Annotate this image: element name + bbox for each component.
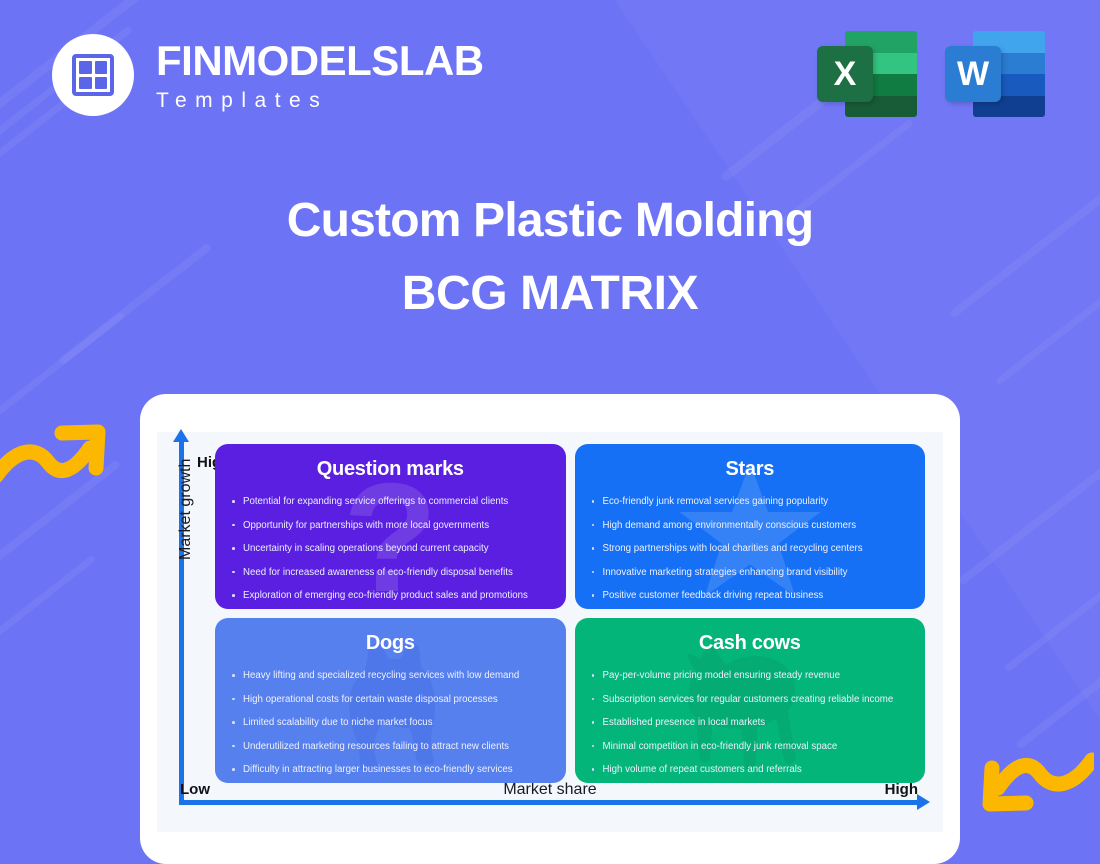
quadrant-question-marks[interactable]: ? Question marks Potential for expanding… (215, 444, 566, 609)
title-line-1: Custom Plastic Molding (0, 193, 1100, 250)
list-item: Innovative marketing strategies enhancin… (589, 566, 912, 579)
list-item: High demand among environmentally consci… (589, 519, 912, 532)
list-item: Need for increased awareness of eco-frie… (229, 566, 552, 579)
squiggle-arrow-up-right-icon (0, 404, 122, 499)
list-item: Limited scalability due to niche market … (229, 716, 552, 729)
quadrant-item-list: Heavy lifting and specialized recycling … (229, 669, 552, 776)
grid-logo-icon (72, 54, 114, 96)
quadrant-dogs[interactable]: Dogs Heavy lifting and specialized recyc… (215, 618, 566, 783)
list-item: Subscription services for regular custom… (589, 693, 912, 706)
brand-header: FINMODELSLAB Templates (52, 34, 484, 116)
quadrant-title: Stars (589, 458, 912, 481)
word-icon-letter: W (945, 46, 1001, 102)
file-format-icons: X W (817, 28, 1045, 120)
list-item: Strong partnerships with local charities… (589, 542, 912, 555)
axis-title-market-growth: Market growth (177, 459, 195, 560)
list-item: Pay-per-volume pricing model ensuring st… (589, 669, 912, 682)
quadrant-stars[interactable]: Stars Eco-friendly junk removal services… (575, 444, 926, 609)
market-share-axis (179, 800, 919, 805)
bcg-matrix-card: High Low High Market share Market growth… (140, 394, 960, 864)
list-item: Established presence in local markets (589, 716, 912, 729)
list-item: High operational costs for certain waste… (229, 693, 552, 706)
list-item: Underutilized marketing resources failin… (229, 740, 552, 753)
list-item: Potential for expanding service offering… (229, 495, 552, 508)
list-item: Heavy lifting and specialized recycling … (229, 669, 552, 682)
brand-name: FINMODELSLAB (156, 40, 484, 82)
logo-circle (52, 34, 134, 116)
excel-icon-letter: X (817, 46, 873, 102)
page-title: Custom Plastic Molding BCG MATRIX (0, 193, 1100, 322)
title-line-2: BCG MATRIX (0, 266, 1100, 323)
quadrant-item-list: Potential for expanding service offering… (229, 495, 552, 602)
brand-subtitle: Templates (156, 90, 484, 111)
matrix-panel: High Low High Market share Market growth… (157, 432, 943, 832)
axis-title-market-share: Market share (157, 781, 943, 799)
list-item: Exploration of emerging eco-friendly pro… (229, 589, 552, 602)
word-icon: W (945, 28, 1045, 120)
excel-icon: X (817, 28, 917, 120)
quadrant-title: Cash cows (589, 632, 912, 655)
squiggle-arrow-down-left-icon (966, 742, 1094, 837)
list-item: High volume of repeat customers and refe… (589, 763, 912, 776)
list-item: Opportunity for partnerships with more l… (229, 519, 552, 532)
quadrant-item-list: Pay-per-volume pricing model ensuring st… (589, 669, 912, 776)
list-item: Minimal competition in eco-friendly junk… (589, 740, 912, 753)
list-item: Uncertainty in scaling operations beyond… (229, 542, 552, 555)
quadrant-cash-cows[interactable]: Cash cows Pay-per-volume pricing model e… (575, 618, 926, 783)
list-item: Difficulty in attracting larger business… (229, 763, 552, 776)
quadrant-title: Question marks (229, 458, 552, 481)
quadrant-title: Dogs (229, 632, 552, 655)
list-item: Positive customer feedback driving repea… (589, 589, 912, 602)
quadrant-grid: ? Question marks Potential for expanding… (215, 444, 925, 783)
list-item: Eco-friendly junk removal services gaini… (589, 495, 912, 508)
quadrant-item-list: Eco-friendly junk removal services gaini… (589, 495, 912, 602)
